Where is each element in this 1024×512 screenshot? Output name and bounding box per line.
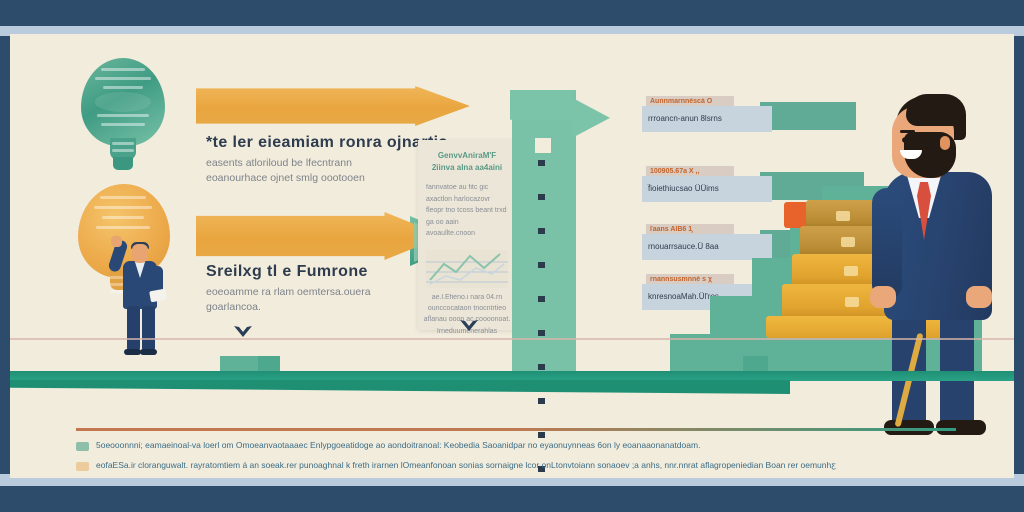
section-top-headline: *te ler eieamiam ronra ojnartis [206,134,448,152]
label-body-text: rnouarrsauce.Ü 8aa [642,234,772,259]
right-arrow-icon-1 [196,86,470,126]
card-footer-line-1: ae.l.Efieno.i nara 04.rn [418,292,516,303]
card-heading-line-2: 2iinva alna aa4aini [424,162,510,174]
card-body-line-3: fleopr tno tcoss beant trxd [426,205,508,217]
column-dot [538,364,545,370]
column-dot [538,330,545,336]
bullet-list: 5oeooonnni; eamaeinoal-va loerl om Omoea… [76,440,966,478]
section-top-text: *te ler eieamiam ronra ojnartis easents … [206,134,448,186]
label-body-text: f̃ioiethiucsao ÜÜims [642,176,772,201]
card-body-line-2: axactlon harlocazovr [426,194,508,206]
label-tag-text: rnannsusmnné s χ [646,274,734,284]
label-tag-text: 100905.67a Χ ,, [646,166,734,176]
info-card: GenvvAniraM'F 2iinva alna aa4aini fannva… [418,140,516,330]
faint-rule [10,338,1014,340]
section-bottom-text: Sreilxg tl e Fumrone eoeoamme ra rlam oe… [206,263,371,315]
label-body-text: rrroancn-anun 8lsrns [642,106,772,131]
list-item: eofaESa.ir cloranguwalt. rayratomtiem á … [76,460,966,471]
card-heading-line-1: GenvvAniraM'F [424,150,510,162]
label-body: rnouarrsauce.Ü 8aa [642,234,772,260]
right-arrow-icon-2 [196,212,444,260]
card-footer-line-2: ounccocataon tnocntrtieo [418,303,516,314]
poster-canvas: *te ler eieamiam ronra ojnartis easents … [10,34,1014,478]
label-tail [760,102,856,130]
infographic-poster: *te ler eieamiam ronra ojnartis easents … [0,0,1024,512]
label-body: f̃ioiethiucsao ÜÜims [642,176,772,202]
small-bar-2 [698,356,768,372]
label-tag-text: Aunnmarnnéscá O [646,96,734,106]
bottom-divider [76,428,956,431]
red-tab-icon [784,202,808,228]
chevron-down-icon [460,320,478,333]
column-dot [538,398,545,404]
small-bar-1 [220,356,280,372]
card-body-line-4: ga oo aain avoaullte.cnoon [426,217,508,240]
section-top-subline-2: eoanourhace ojnet smlg oootooen [206,171,448,186]
avatar-right-businessman [848,80,1014,450]
column-dot [538,262,545,268]
section-bottom-subline-2: goarlancoa. [206,300,371,315]
card-body-line-1: fannvatoe au fitc gic [426,182,508,194]
chart-baseline-shadow [10,380,790,394]
column-dot [538,194,545,200]
bullet-text: eofaESa.ir cloranguwalt. rayratomtiem á … [96,460,836,471]
column-dot [538,432,545,438]
section-bottom-headline: Sreilxg tl e Fumrone [206,263,371,281]
central-column-note [535,138,551,153]
bullet-marker-icon [76,462,89,471]
bulb-teal-icon [73,58,173,170]
label-body: rrroancn-anun 8lsrns [642,106,772,132]
column-dot [538,228,545,234]
bullet-text: 5oeooonnni; eamaeinoal-va loerl om Omoea… [96,440,700,451]
card-sparkline-chart [426,250,508,288]
chevron-down-icon [234,326,252,339]
label-tag-text: ľaans AlB6 1̧ [646,224,734,234]
column-dot [538,296,545,302]
bullet-marker-icon [76,442,89,451]
section-bottom-subline-1: eoeoamme ra rlam oemtersa.ouera [206,285,371,300]
section-top-subline-1: easents atloriloud be lfecntrann [206,156,448,171]
column-dot [538,160,545,166]
chart-baseline [10,371,1014,381]
list-item: 5oeooonnni; eamaeinoal-va loerl om Omoea… [76,440,966,451]
